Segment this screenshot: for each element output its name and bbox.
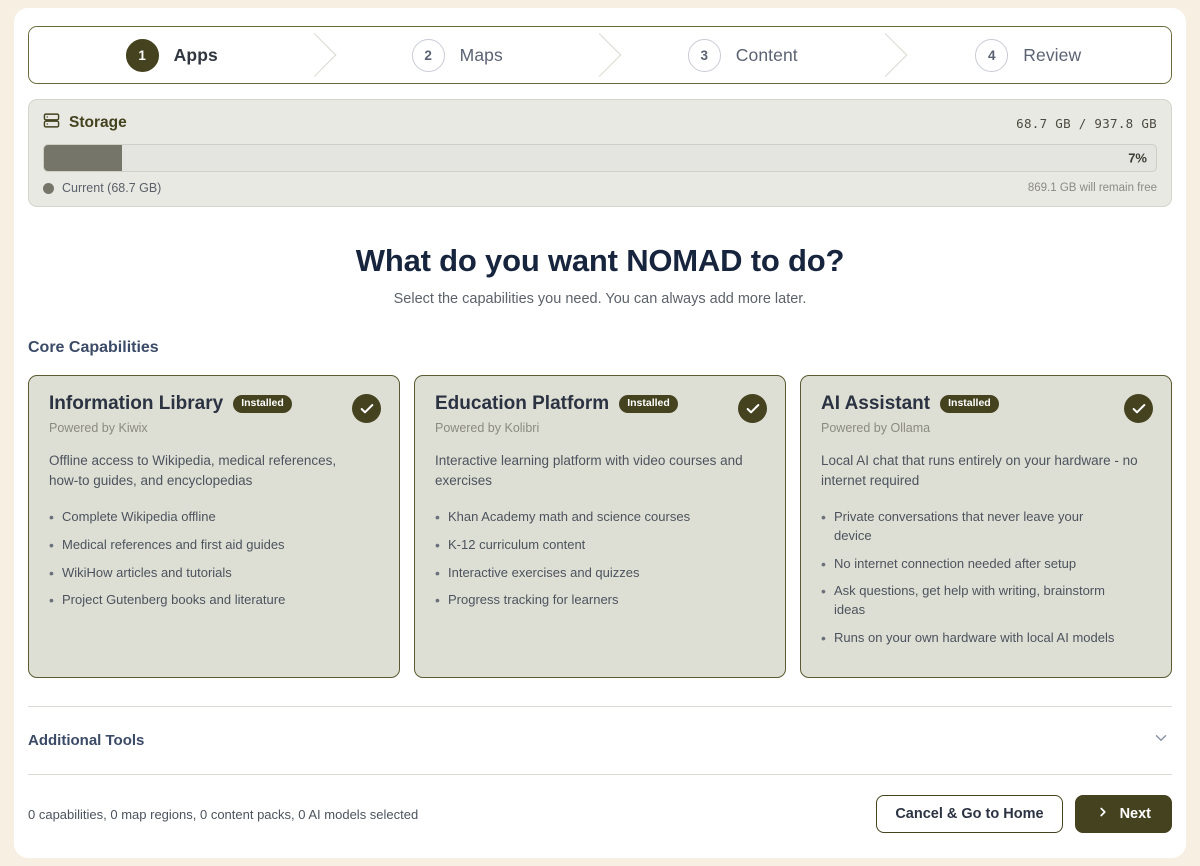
page-subtitle: Select the capabilities you need. You ca… — [28, 291, 1172, 307]
step-review-number: 4 — [975, 39, 1008, 72]
storage-size-readout: 68.7 GB / 937.8 GB — [1016, 116, 1157, 131]
card-powered-by: Powered by Kolibri — [435, 421, 768, 435]
storage-percent-label: 7% — [1128, 151, 1147, 166]
capability-card-education-platform[interactable]: Education Platform Installed Powered by … — [414, 375, 786, 678]
wizard-stepper: 1 Apps 2 Maps 3 Content 4 Review — [28, 26, 1172, 84]
card-title: AI Assistant — [821, 393, 930, 415]
card-description: Local AI chat that runs entirely on your… — [821, 451, 1141, 491]
list-item: Complete Wikipedia offline — [49, 508, 349, 527]
step-review-label: Review — [1023, 45, 1081, 66]
selected-check-icon — [738, 394, 767, 423]
storage-progress-bar: 7% — [43, 144, 1157, 172]
storage-remaining-free: 869.1 GB will remain free — [1028, 182, 1157, 194]
legend-label-current: Current (68.7 GB) — [62, 181, 161, 195]
selection-summary: 0 capabilities, 0 map regions, 0 content… — [28, 807, 418, 822]
card-feature-list: Khan Academy math and science courses K-… — [435, 508, 768, 610]
step-apps[interactable]: 1 Apps — [29, 27, 315, 83]
additional-tools-accordion[interactable]: Additional Tools — [28, 706, 1172, 775]
list-item: Khan Academy math and science courses — [435, 508, 735, 527]
next-button[interactable]: Next — [1075, 795, 1172, 833]
list-item: K-12 curriculum content — [435, 536, 735, 555]
status-badge: Installed — [233, 395, 292, 413]
section-heading-core-capabilities: Core Capabilities — [28, 339, 1172, 357]
card-description: Offline access to Wikipedia, medical ref… — [49, 451, 369, 491]
card-header: Education Platform Installed — [435, 393, 768, 415]
storage-legend: Current (68.7 GB) — [43, 181, 161, 195]
card-title: Education Platform — [435, 393, 609, 415]
selected-check-icon — [352, 394, 381, 423]
list-item: Private conversations that never leave y… — [821, 508, 1121, 546]
card-title: Information Library — [49, 393, 223, 415]
cancel-button[interactable]: Cancel & Go to Home — [876, 795, 1062, 833]
list-item: Interactive exercises and quizzes — [435, 564, 735, 583]
step-maps-label: Maps — [460, 45, 503, 66]
list-item: Medical references and first aid guides — [49, 536, 349, 555]
storage-header: Storage 68.7 GB / 937.8 GB — [43, 112, 1157, 134]
step-maps[interactable]: 2 Maps — [315, 27, 601, 83]
card-feature-list: Private conversations that never leave y… — [821, 508, 1154, 648]
step-content-label: Content — [736, 45, 798, 66]
server-icon — [43, 112, 60, 134]
cancel-button-label: Cancel & Go to Home — [895, 806, 1043, 822]
list-item: Project Gutenberg books and literature — [49, 591, 349, 610]
step-apps-label: Apps — [174, 45, 218, 66]
card-header: AI Assistant Installed — [821, 393, 1154, 415]
hero-section: What do you want NOMAD to do? Select the… — [28, 243, 1172, 307]
storage-title: Storage — [69, 114, 127, 132]
additional-tools-label: Additional Tools — [28, 732, 144, 749]
wizard-footer: 0 capabilities, 0 map regions, 0 content… — [28, 795, 1172, 833]
legend-dot-current — [43, 183, 54, 194]
step-review[interactable]: 4 Review — [886, 27, 1172, 83]
chevron-down-icon[interactable] — [1152, 729, 1170, 752]
status-badge: Installed — [940, 395, 999, 413]
page-title: What do you want NOMAD to do? — [28, 243, 1172, 279]
list-item: No internet connection needed after setu… — [821, 555, 1121, 574]
step-content-number: 3 — [688, 39, 721, 72]
list-item: Progress tracking for learners — [435, 591, 735, 610]
step-content[interactable]: 3 Content — [600, 27, 886, 83]
storage-panel: Storage 68.7 GB / 937.8 GB 7% Current (6… — [28, 99, 1172, 207]
card-header: Information Library Installed — [49, 393, 382, 415]
storage-progress-fill — [44, 145, 122, 171]
card-feature-list: Complete Wikipedia offline Medical refer… — [49, 508, 382, 610]
card-powered-by: Powered by Kiwix — [49, 421, 382, 435]
card-powered-by: Powered by Ollama — [821, 421, 1154, 435]
chevron-right-icon — [1096, 805, 1110, 823]
list-item: Runs on your own hardware with local AI … — [821, 629, 1121, 648]
capability-card-ai-assistant[interactable]: AI Assistant Installed Powered by Ollama… — [800, 375, 1172, 678]
app-window: 1 Apps 2 Maps 3 Content 4 Review — [14, 8, 1186, 858]
step-apps-number: 1 — [126, 39, 159, 72]
status-badge: Installed — [619, 395, 678, 413]
capability-card-information-library[interactable]: Information Library Installed Powered by… — [28, 375, 400, 678]
list-item: WikiHow articles and tutorials — [49, 564, 349, 583]
selected-check-icon — [1124, 394, 1153, 423]
capability-card-grid: Information Library Installed Powered by… — [28, 375, 1172, 678]
step-maps-number: 2 — [412, 39, 445, 72]
storage-footer: Current (68.7 GB) 869.1 GB will remain f… — [43, 181, 1157, 195]
next-button-label: Next — [1120, 806, 1151, 822]
card-description: Interactive learning platform with video… — [435, 451, 755, 491]
list-item: Ask questions, get help with writing, br… — [821, 582, 1121, 620]
footer-actions: Cancel & Go to Home Next — [876, 795, 1172, 833]
storage-title-group: Storage — [43, 112, 127, 134]
